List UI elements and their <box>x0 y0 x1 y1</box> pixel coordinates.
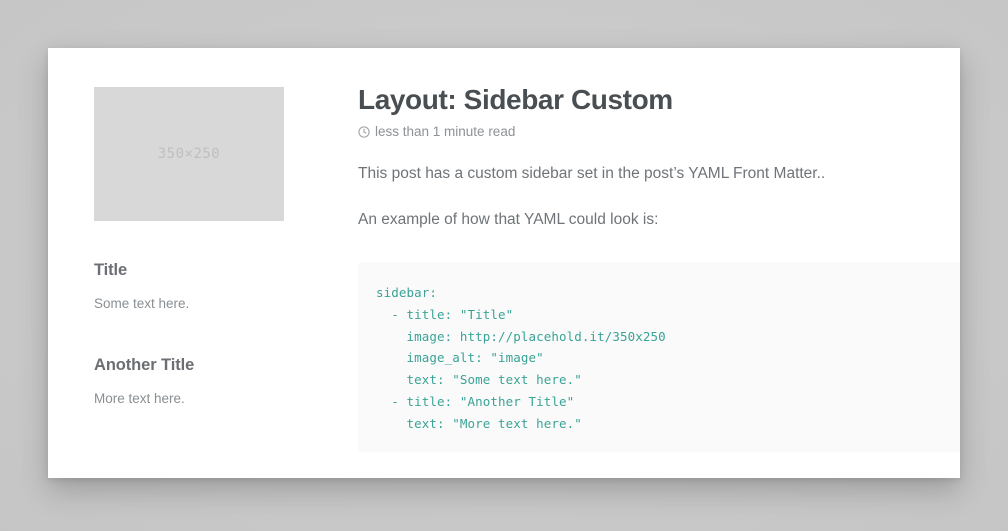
code-content: sidebar: - title: "Title" image: http://… <box>358 262 960 435</box>
sidebar-placeholder-image: 350×250 <box>94 87 284 221</box>
post-content: Layout: Sidebar Custom less than 1 minut… <box>358 84 960 232</box>
read-time-label: less than 1 minute read <box>375 124 515 139</box>
yaml-code-block: sidebar: - title: "Title" image: http://… <box>358 262 960 452</box>
custom-sidebar: 350×250 Title Some text here. Another Ti… <box>94 87 294 410</box>
card-inner: 350×250 Title Some text here. Another Ti… <box>48 48 960 478</box>
post-paragraph-2: An example of how that YAML could look i… <box>358 208 960 231</box>
sidebar-block-text: More text here. <box>94 389 294 409</box>
post-paragraph-1: This post has a custom sidebar set in th… <box>358 162 960 185</box>
sidebar-block-text: Some text here. <box>94 294 294 314</box>
sidebar-figure: 350×250 <box>94 87 294 221</box>
sidebar-block-heading: Another Title <box>94 356 294 375</box>
clock-icon <box>358 126 370 138</box>
sidebar-block-title: Title Some text here. <box>94 261 294 314</box>
page-card: 350×250 Title Some text here. Another Ti… <box>48 48 960 478</box>
post-meta: less than 1 minute read <box>358 124 960 139</box>
sidebar-block-heading: Title <box>94 261 294 280</box>
placeholder-dimensions-label: 350×250 <box>158 146 221 162</box>
page-title: Layout: Sidebar Custom <box>358 84 960 116</box>
sidebar-block-another-title: Another Title More text here. <box>94 356 294 409</box>
